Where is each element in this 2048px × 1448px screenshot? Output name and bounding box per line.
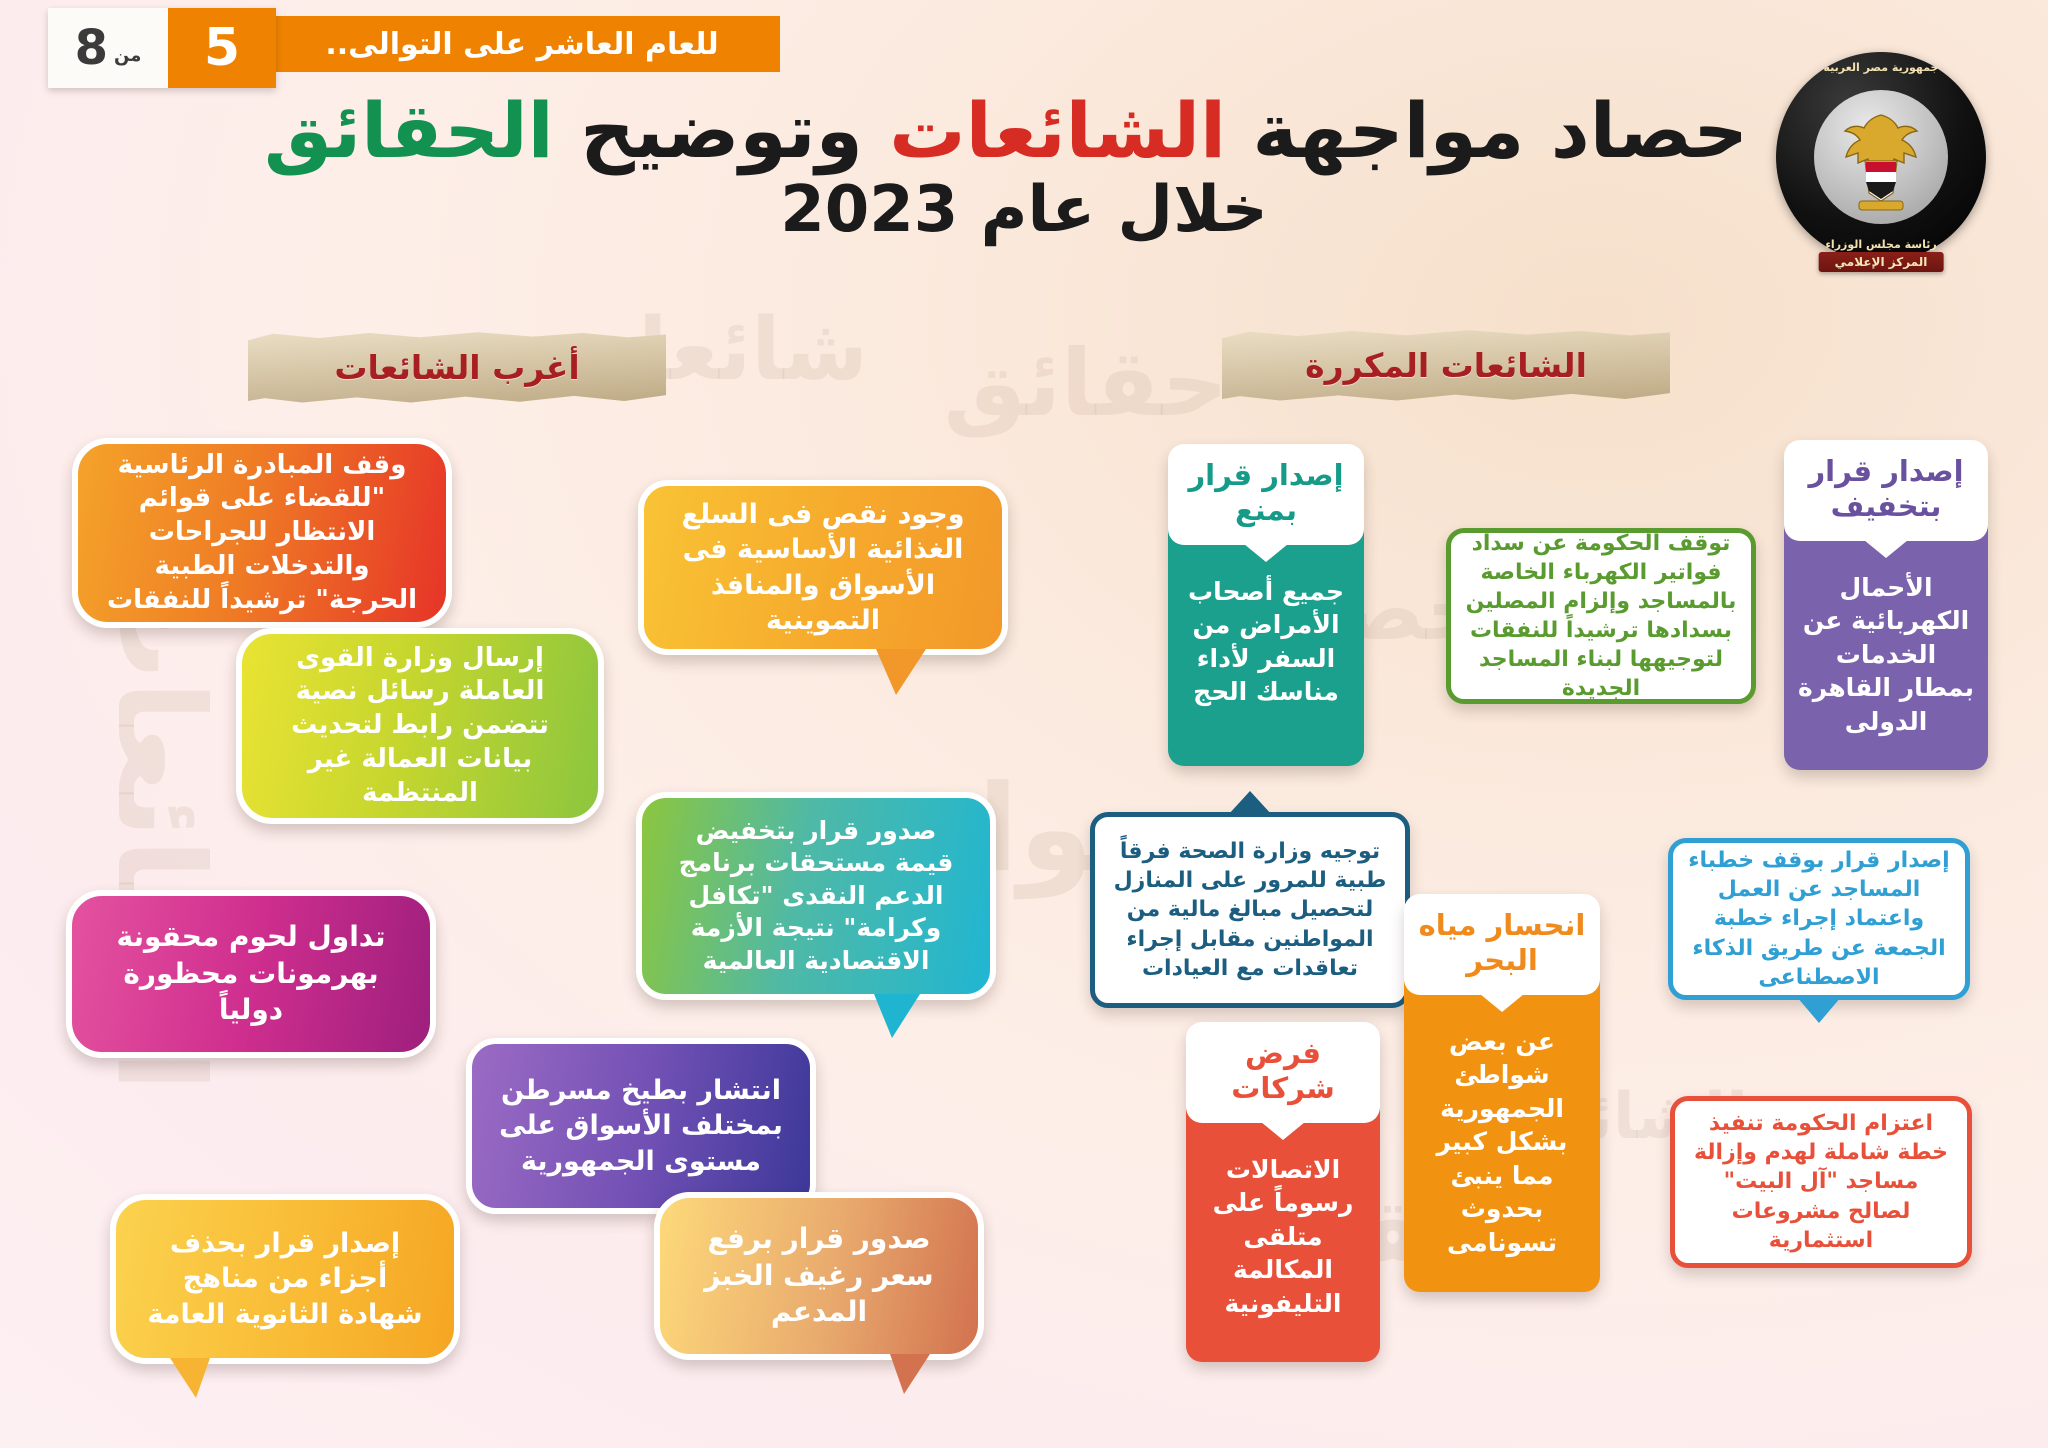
rumor-bubble-text: وقف المبادرة الرئاسية "للقضاء على قوائم … (102, 449, 422, 618)
rumor-bubble-text: وجود نقص فى السلع الغذائية الأساسية فى ا… (668, 497, 978, 637)
title-part-1: حصاد مواجهة (1226, 86, 1748, 175)
card-title-text: إصدار قرار بمنع (1188, 458, 1343, 527)
card-body-text: الاتصالات رسوماً على متلقى المكالمة التل… (1198, 1153, 1368, 1321)
title-line-1: حصاد مواجهة الشائعات وتوضيح الحقائق (300, 88, 1748, 173)
card-title: إصدار قرار بتخفيف (1784, 440, 1988, 541)
title-line-2: خلال عام 2023 (300, 175, 1748, 245)
page-current: 5 (168, 8, 276, 88)
strange-rumor-card[interactable]: توجيه وزارة الصحة فرقاً طبية للمرور على … (1090, 812, 1410, 1008)
card-body-text: جميع أصحاب الأمراض من السفر لأداء مناسك … (1180, 575, 1352, 709)
card-body-text: توجيه وزارة الصحة فرقاً طبية للمرور على … (1109, 837, 1391, 982)
card-title: إصدار قرار بمنع (1168, 444, 1364, 545)
card-body-text: اعتزام الحكومة تنفيذ خطة شاملة لهدم وإزا… (1689, 1109, 1953, 1254)
title-part-2: وتوضيح (554, 86, 890, 175)
watermark-text: حقائق (943, 330, 1228, 437)
rumor-bubble-text: إصدار قرار بحذف أجزاء من مناهج شهادة الث… (140, 1226, 430, 1331)
eagle-of-saladin-icon (1776, 52, 1986, 262)
section-heading-repeated-label: الشائعات المكررة (1305, 346, 1587, 385)
bubble-tail (890, 1354, 930, 1394)
strange-rumor-card[interactable]: فرض شركات الاتصالات رسوماً على متلقى الم… (1186, 1022, 1380, 1362)
rumor-bubble-text: إرسال وزارة القوى العاملة رسائل نصية تتض… (266, 642, 574, 811)
cabinet-logo: جمهورية مصر العربية رئاسة مجلس الوزراء ا… (1776, 52, 1986, 262)
card-body: عن بعض شواطئ الجمهورية بشكل كبير مما ينب… (1404, 995, 1600, 1292)
page-of-label: من (114, 31, 141, 66)
card-body: جميع أصحاب الأمراض من السفر لأداء مناسك … (1168, 545, 1364, 766)
rumor-bubble[interactable]: وقف المبادرة الرئاسية "للقضاء على قوائم … (72, 438, 452, 628)
section-heading-strangest-label: أغرب الشائعات (334, 348, 579, 387)
card-pointer-up-icon (1228, 791, 1272, 815)
bubble-tail (170, 1358, 210, 1398)
strange-rumor-card[interactable]: إصدار قرار بمنع جميع أصحاب الأمراض من ال… (1168, 444, 1364, 766)
card-pointer-down-icon (1797, 997, 1841, 1023)
rumor-bubble-text: صدور قرار برفع سعر رغيف الخبز المدعم (684, 1221, 954, 1330)
strange-rumor-card[interactable]: انحسار مياه البحر عن بعض شواطئ الجمهورية… (1404, 894, 1600, 1292)
card-body-text: عن بعض شواطئ الجمهورية بشكل كبير مما ينب… (1416, 1025, 1588, 1260)
strange-rumor-card[interactable]: اعتزام الحكومة تنفيذ خطة شاملة لهدم وإزا… (1670, 1096, 1972, 1268)
logo-ribbon-label: المركز الإعلامي (1819, 252, 1944, 272)
rumor-bubble[interactable]: صدور قرار برفع سعر رغيف الخبز المدعم (654, 1192, 984, 1360)
rumor-bubble[interactable]: صدور قرار بتخفيض قيمة مستحقات برنامج الد… (636, 792, 996, 1000)
rumor-bubble-text: تداول لحوم محقونة بهرمونات محظورة دولياً (96, 919, 406, 1028)
bubble-tail (876, 649, 926, 695)
page-indicator: 5 8 من (48, 8, 276, 88)
card-title-text: إصدار قرار بتخفيف (1808, 454, 1963, 523)
title-part-rumors: الشائعات (889, 86, 1226, 175)
rumor-bubble[interactable]: انتشار بطيخ مسرطن بمختلف الأسواق على مست… (466, 1038, 816, 1214)
rumor-bubble-text: انتشار بطيخ مسرطن بمختلف الأسواق على مست… (496, 1073, 786, 1178)
section-heading-strangest-rumors: أغرب الشائعات (248, 330, 666, 404)
section-heading-repeated-rumors: الشائعات المكررة (1222, 328, 1670, 402)
rumor-bubble[interactable]: تداول لحوم محقونة بهرمونات محظورة دولياً (66, 890, 436, 1058)
rumor-bubble[interactable]: إرسال وزارة القوى العاملة رسائل نصية تتض… (236, 628, 604, 824)
bubble-tail (874, 994, 920, 1038)
rumor-bubble-text: صدور قرار بتخفيض قيمة مستحقات برنامج الد… (666, 815, 966, 978)
card-title-text: انحسار مياه البحر (1419, 908, 1586, 977)
card-title: فرض شركات (1186, 1022, 1380, 1123)
card-body-text: الأحمال الكهربائية عن الخدمات بمطار القا… (1796, 571, 1976, 739)
title-part-facts: الحقائق (264, 86, 554, 175)
rumor-bubble[interactable]: إصدار قرار بحذف أجزاء من مناهج شهادة الث… (110, 1194, 460, 1364)
page-total: 8 (75, 20, 108, 76)
rumor-bubble[interactable]: وجود نقص فى السلع الغذائية الأساسية فى ا… (638, 480, 1008, 655)
card-title-text: فرض شركات (1231, 1036, 1334, 1105)
card-body-text: إصدار قرار بوقف خطباء المساجد عن العمل و… (1687, 846, 1951, 991)
strange-rumor-card[interactable]: توقف الحكومة عن سداد فواتير الكهرباء الخ… (1446, 528, 1756, 704)
page-total-group: 8 من (48, 8, 168, 88)
card-body: الاتصالات رسوماً على متلقى المكالمة التل… (1186, 1123, 1380, 1362)
header-banner: للعام العاشر على التوالى.. (0, 8, 2048, 70)
ribbon-strip: للعام العاشر على التوالى.. (264, 16, 780, 72)
card-title: انحسار مياه البحر (1404, 894, 1600, 995)
strange-rumor-card[interactable]: إصدار قرار بوقف خطباء المساجد عن العمل و… (1668, 838, 1970, 1000)
page-title: حصاد مواجهة الشائعات وتوضيح الحقائق خلال… (300, 88, 1748, 246)
card-body-text: توقف الحكومة عن سداد فواتير الكهرباء الخ… (1465, 529, 1737, 703)
ribbon-label: للعام العاشر على التوالى.. (325, 27, 718, 62)
strange-rumor-card[interactable]: إصدار قرار بتخفيف الأحمال الكهربائية عن … (1784, 440, 1988, 770)
card-body: الأحمال الكهربائية عن الخدمات بمطار القا… (1784, 541, 1988, 770)
